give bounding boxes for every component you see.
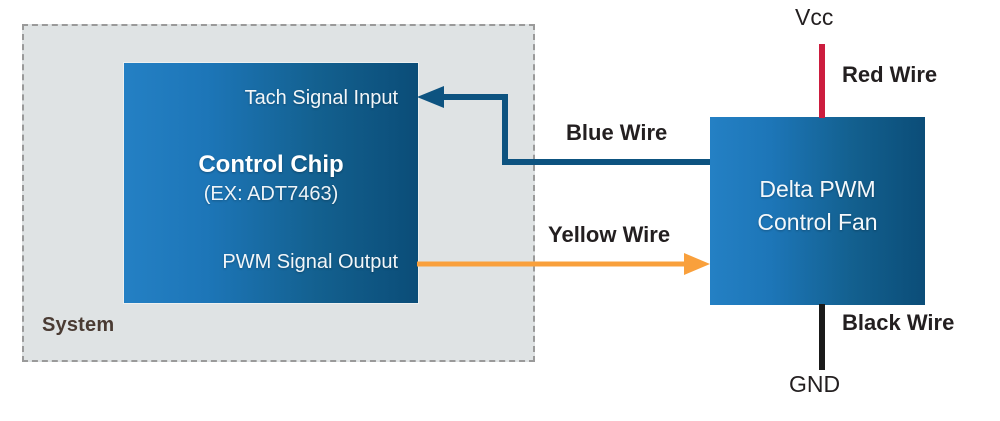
- fan-title-line2: Control Fan: [757, 209, 877, 235]
- vcc-rail-label: Vcc: [795, 4, 833, 31]
- gnd-rail-label: GND: [789, 371, 840, 398]
- tach-signal-input-label: Tach Signal Input: [245, 87, 398, 110]
- control-chip-block: Tach Signal Input Control Chip (EX: ADT7…: [124, 63, 418, 303]
- control-chip-subtitle: (EX: ADT7463): [124, 183, 418, 206]
- fan-title-line1: Delta PWM: [759, 176, 875, 202]
- diagram-canvas: System Tach Signal Input Control Chip (E…: [0, 0, 1000, 421]
- blue-wire-label: Blue Wire: [566, 120, 667, 146]
- fan-title: Delta PWM Control Fan: [710, 173, 925, 239]
- delta-pwm-control-fan-block: Delta PWM Control Fan: [710, 117, 925, 305]
- yellow-wire-label: Yellow Wire: [548, 222, 670, 248]
- pwm-signal-output-label: PWM Signal Output: [222, 251, 398, 274]
- red-wire-label: Red Wire: [842, 62, 937, 88]
- yellow-wire-arrowhead: [684, 253, 710, 275]
- system-label: System: [42, 314, 114, 337]
- black-wire-label: Black Wire: [842, 310, 954, 336]
- control-chip-title: Control Chip: [124, 151, 418, 179]
